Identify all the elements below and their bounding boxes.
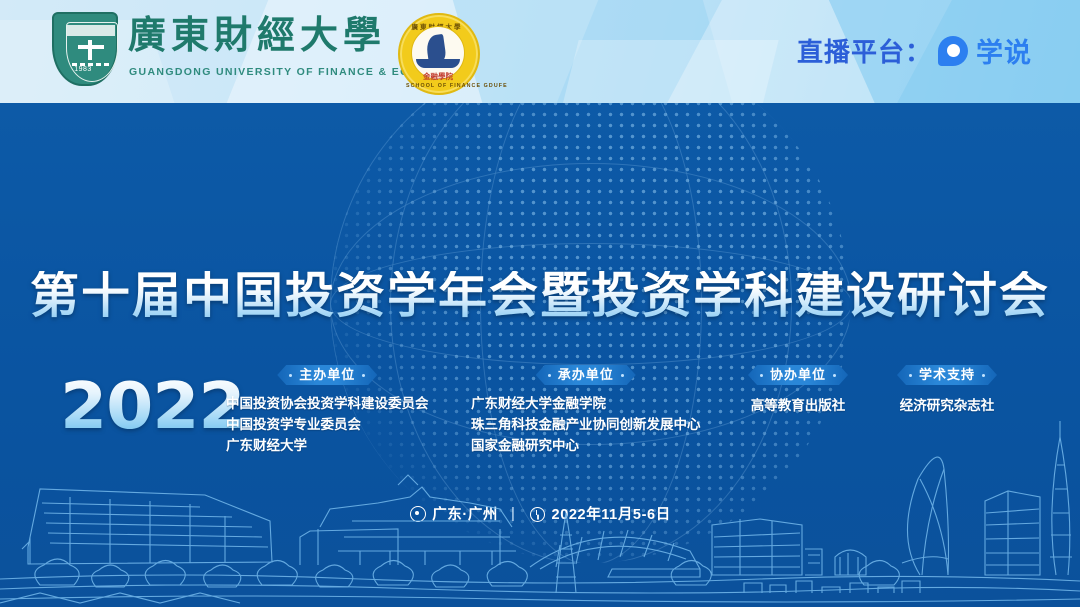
university-name-cn: 廣東財經大學 xyxy=(128,16,386,54)
conference-banner-page: 1983 廣東財經大學 GUANGDONG UNIVERSITY OF FINA… xyxy=(0,0,1080,607)
main-banner: 第十届中国投资学年会暨投资学科建设研讨会 2022 主办单位 中国投资协会投资学… xyxy=(0,103,1080,607)
emblem-center-text: 金融學院 xyxy=(416,71,460,82)
shield-body xyxy=(52,12,118,86)
organizer-list: 经济研究杂志社 xyxy=(897,395,997,416)
shield-bird-mark xyxy=(78,40,104,60)
guangdong-university-shield-icon: 1983 xyxy=(46,10,122,90)
conference-title: 第十届中国投资学年会暨投资学科建设研讨会 xyxy=(0,271,1080,320)
header-facet-6 xyxy=(541,40,778,103)
list-item: 中国投资协会投资学科建设委员会 xyxy=(226,393,429,414)
organizer-list: 高等教育出版社 xyxy=(748,395,848,416)
organizer-pill-label: 主办单位 xyxy=(277,365,377,385)
school-of-finance-circular-emblem-icon: 廣東財經大學 金融學院 SCHOOL OF FINANCE GDUFE xyxy=(398,13,480,95)
guangzhou-skyline-line-art xyxy=(0,417,1080,607)
list-item: 高等教育出版社 xyxy=(748,395,848,416)
organizer-pill-label: 协办单位 xyxy=(748,365,848,385)
live-platform-label: 直播平台： xyxy=(797,32,932,69)
organizer-column-academic-support: 学术支持 经济研究杂志社 xyxy=(897,365,997,416)
live-platform-name: 学说 xyxy=(976,31,1032,70)
list-item: 广东财经大学金融学院 xyxy=(471,393,701,414)
shield-year-label: 1983 xyxy=(46,66,120,73)
list-item: 经济研究杂志社 xyxy=(897,395,997,416)
live-platform-block: 直播平台： 学说 xyxy=(797,31,1032,70)
organizer-pill-label: 承办单位 xyxy=(536,365,636,385)
emblem-boat-mark xyxy=(416,59,460,68)
page-header: 1983 廣東財經大學 GUANGDONG UNIVERSITY OF FINA… xyxy=(0,0,1080,103)
shield-name-band xyxy=(67,25,115,36)
organizer-column-cohost: 协办单位 高等教育出版社 xyxy=(748,365,848,416)
emblem-bottom-text: SCHOOL OF FINANCE GDUFE xyxy=(406,83,468,89)
organizer-pill-label: 学术支持 xyxy=(897,365,997,385)
xueshuo-logo-icon xyxy=(938,36,968,66)
